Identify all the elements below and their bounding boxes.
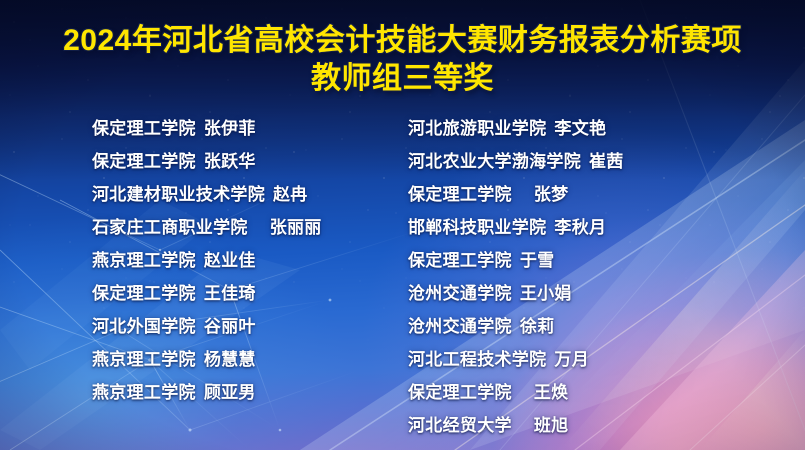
awardee-row: 沧州交通学院徐莉 xyxy=(408,310,748,343)
awardee-person: 赵业佳 xyxy=(204,251,256,270)
title-line-2: 教师组三等奖 xyxy=(0,60,805,98)
slide-content: 2024年河北省高校会计技能大赛财务报表分析赛项 教师组三等奖 保定理工学院张伊… xyxy=(0,0,805,450)
awardee-person: 于雪 xyxy=(520,251,555,270)
awardee-person: 李秋月 xyxy=(554,218,606,237)
awardee-org: 保定理工学院 xyxy=(92,152,196,171)
awardee-person: 班旭 xyxy=(534,416,569,435)
awardee-person: 王佳琦 xyxy=(204,284,256,303)
awardee-row: 邯郸科技职业学院李秋月 xyxy=(408,211,748,244)
awardee-row: 保定理工学院张梦 xyxy=(408,178,748,211)
awardee-org: 河北农业大学渤海学院 xyxy=(408,152,581,171)
awardee-person: 杨慧慧 xyxy=(204,350,256,369)
awardee-org: 河北建材职业技术学院 xyxy=(92,185,265,204)
awardee-person: 赵冉 xyxy=(273,185,308,204)
awardee-org: 沧州交通学院 xyxy=(408,317,512,336)
awardee-org: 河北工程技术学院 xyxy=(408,350,546,369)
awardee-org: 河北经贸大学 xyxy=(408,416,512,435)
title-line-1: 2024年河北省高校会计技能大赛财务报表分析赛项 xyxy=(0,22,805,60)
awardee-row: 沧州交通学院王小娟 xyxy=(408,277,748,310)
awardee-org: 保定理工学院 xyxy=(92,284,196,303)
awardee-org: 燕京理工学院 xyxy=(92,350,196,369)
awardee-org: 沧州交通学院 xyxy=(408,284,512,303)
awardee-org: 燕京理工学院 xyxy=(92,383,196,402)
awardee-org: 河北旅游职业学院 xyxy=(408,119,546,138)
awardee-org: 河北外国学院 xyxy=(92,317,196,336)
awardee-person: 张跃华 xyxy=(204,152,256,171)
awardee-row: 保定理工学院王焕 xyxy=(408,376,748,409)
awardee-org: 石家庄工商职业学院 xyxy=(92,218,248,237)
awardee-row: 燕京理工学院赵业佳 xyxy=(92,244,402,277)
awardee-row: 河北经贸大学班旭 xyxy=(408,409,748,442)
awardee-row: 河北工程技术学院万月 xyxy=(408,343,748,376)
awardee-org: 保定理工学院 xyxy=(92,119,196,138)
awardee-person: 张丽丽 xyxy=(270,218,322,237)
awardee-row: 燕京理工学院杨慧慧 xyxy=(92,343,402,376)
awardee-row: 河北外国学院谷丽叶 xyxy=(92,310,402,343)
awardee-org: 保定理工学院 xyxy=(408,185,512,204)
awardee-row: 燕京理工学院顾亚男 xyxy=(92,376,402,409)
awardee-columns: 保定理工学院张伊菲 保定理工学院张跃华 河北建材职业技术学院赵冉 石家庄工商职业… xyxy=(0,112,805,442)
awardee-person: 李文艳 xyxy=(554,119,606,138)
awardee-row: 河北农业大学渤海学院崔茜 xyxy=(408,145,748,178)
awardee-person: 张梦 xyxy=(534,185,569,204)
awardee-row: 河北建材职业技术学院赵冉 xyxy=(92,178,402,211)
awardee-org: 邯郸科技职业学院 xyxy=(408,218,546,237)
slide-title: 2024年河北省高校会计技能大赛财务报表分析赛项 教师组三等奖 xyxy=(0,22,805,98)
awardee-person: 谷丽叶 xyxy=(204,317,256,336)
awardee-row: 保定理工学院于雪 xyxy=(408,244,748,277)
awardee-row: 保定理工学院张伊菲 xyxy=(92,112,402,145)
awardee-org: 保定理工学院 xyxy=(408,251,512,270)
awardee-person: 王焕 xyxy=(534,383,569,402)
awardee-person: 万月 xyxy=(554,350,589,369)
awardee-person: 顾亚男 xyxy=(204,383,256,402)
awardee-person: 王小娟 xyxy=(520,284,572,303)
awardee-person: 徐莉 xyxy=(520,317,555,336)
awardee-column-right: 河北旅游职业学院李文艳 河北农业大学渤海学院崔茜 保定理工学院张梦 邯郸科技职业… xyxy=(408,112,748,442)
awardee-row: 石家庄工商职业学院张丽丽 xyxy=(92,211,402,244)
awardee-row: 河北旅游职业学院李文艳 xyxy=(408,112,748,145)
awardee-row: 保定理工学院张跃华 xyxy=(92,145,402,178)
awardee-org: 燕京理工学院 xyxy=(92,251,196,270)
awardee-person: 崔茜 xyxy=(589,152,624,171)
awardee-column-left: 保定理工学院张伊菲 保定理工学院张跃华 河北建材职业技术学院赵冉 石家庄工商职业… xyxy=(92,112,402,409)
awardee-row: 保定理工学院王佳琦 xyxy=(92,277,402,310)
awardee-org: 保定理工学院 xyxy=(408,383,512,402)
awardee-person: 张伊菲 xyxy=(204,119,256,138)
award-slide: 2024年河北省高校会计技能大赛财务报表分析赛项 教师组三等奖 保定理工学院张伊… xyxy=(0,0,805,450)
